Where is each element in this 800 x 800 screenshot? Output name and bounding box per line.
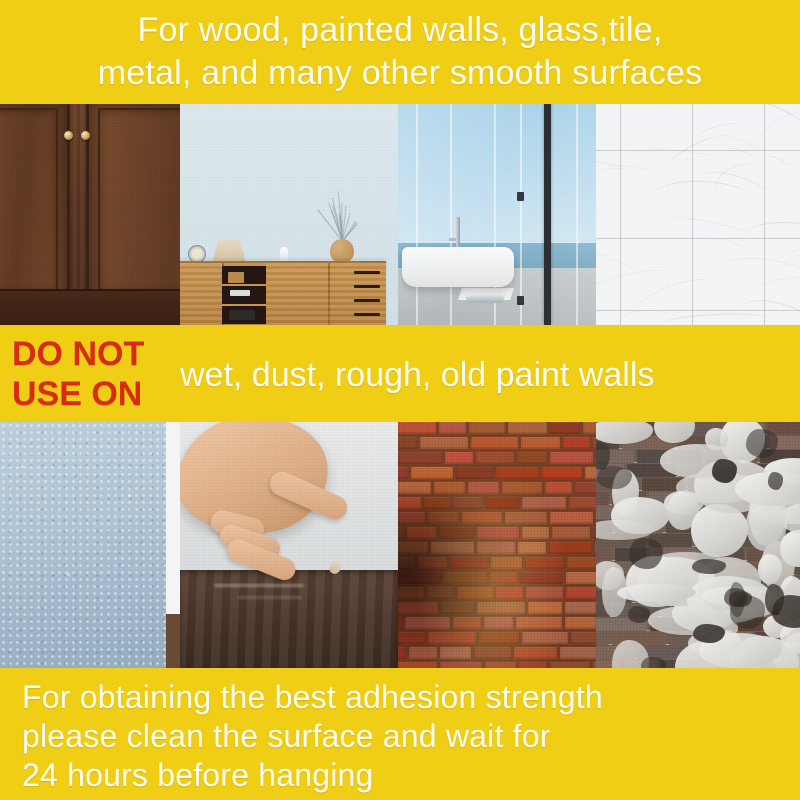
dried-branches [328,191,358,241]
dusty-surface-photo [180,422,398,668]
cabinet-door-right [86,104,180,307]
bottom-banner-line-3: 24 hours before hanging [22,756,800,795]
tub-fittings [466,295,504,303]
top-banner-line-1: For wood, painted walls, glass,tile, [0,9,800,52]
do-not-use-warning: DO NOT USE ON [12,334,144,414]
faucet [456,217,460,247]
cabinet-door-left [0,104,70,307]
cabinet-base [0,289,180,325]
bottom-banner: For obtaining the best adhesion strength… [0,668,800,800]
wood-sideboard [180,261,386,325]
cabinet-knob-icon [81,131,90,140]
top-banner: For wood, painted walls, glass,tile, met… [0,0,800,104]
lamp-shade [212,239,246,263]
product-infographic: For wood, painted walls, glass,tile, met… [0,0,800,800]
suitable-surfaces-row [0,104,800,325]
unsuitable-surfaces-row [0,422,800,668]
window-frame [544,104,551,325]
warning-line-1: DO NOT [12,334,144,374]
rough-brick-photo [398,422,596,668]
avoid-surfaces-text: wet, dust, rough, old paint walls [180,355,654,395]
old-paint-photo [596,422,800,668]
wood-cabinet-photo [0,104,180,325]
do-not-use-banner: DO NOT USE ON wet, dust, rough, old pain… [0,325,800,422]
bottom-banner-line-1: For obtaining the best adhesion strength [22,678,800,717]
decor-vase [330,239,354,263]
bathtub [402,247,514,287]
bottom-banner-line-2: please clean the surface and wait for [22,717,800,756]
open-shelf [222,266,266,324]
wet-surface-photo [0,422,180,668]
dusty-wood-floor [180,570,398,668]
cabinet-knob-icon [64,131,73,140]
warning-line-2: USE ON [12,374,144,414]
tile-photo [596,104,800,325]
glass-photo [398,104,596,325]
painted-wall-photo [180,104,398,325]
top-banner-line-2: metal, and many other smooth surfaces [0,52,800,95]
